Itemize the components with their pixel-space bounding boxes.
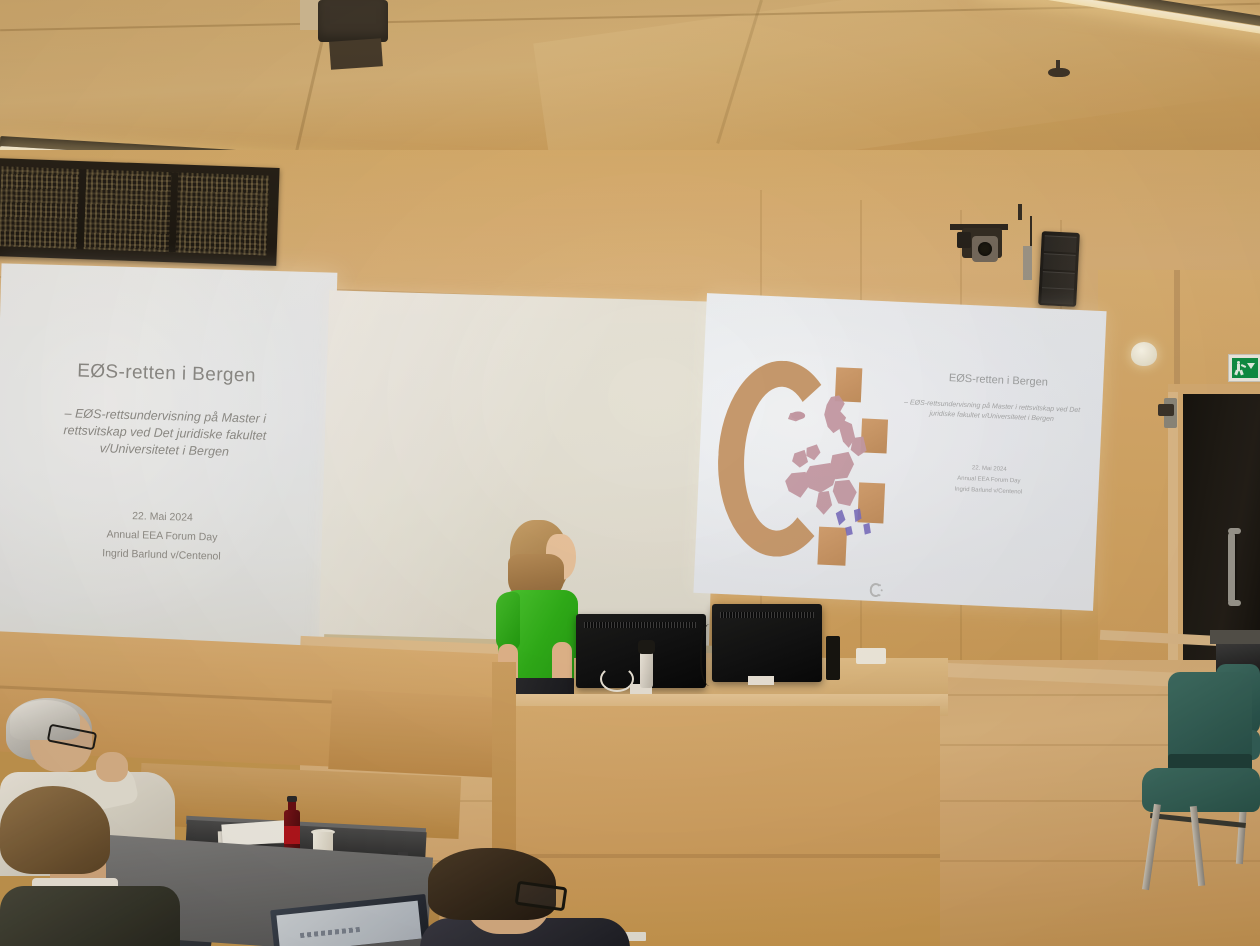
side-desk	[1210, 630, 1260, 644]
cable	[600, 666, 634, 692]
microphone-icon	[640, 648, 653, 688]
loudspeaker-icon	[1038, 231, 1080, 307]
exit-sign-face	[1232, 358, 1258, 378]
c-arc-dots-logo	[869, 583, 886, 600]
europe-map-arc-emblem	[713, 354, 902, 572]
ceiling-sensor-icon	[1048, 68, 1070, 77]
cable	[700, 624, 724, 686]
wall-lamp-icon	[1131, 342, 1157, 366]
attendee-dark-jacket	[0, 786, 210, 946]
monitor-vent	[584, 622, 696, 628]
door-handle-bottom	[1228, 600, 1241, 606]
ceiling-projector-icon	[318, 0, 388, 42]
grille-mesh	[0, 166, 269, 255]
stacking-chair-teal[interactable]	[1142, 672, 1260, 872]
attendee-jacket	[0, 886, 180, 946]
wall-pipe	[1174, 270, 1180, 390]
attendee-foreground-glasses	[420, 848, 650, 946]
ptz-camera-icon	[972, 236, 998, 262]
camera-arm	[957, 232, 971, 248]
presenter-sleeve	[496, 592, 520, 650]
attendee-hair	[0, 786, 110, 874]
door-handle-top	[1228, 528, 1241, 534]
slide-subtitle-left: – EØS-rettsundervisning på Master i rett…	[0, 403, 333, 463]
microphone-head	[638, 640, 655, 654]
projector-plate	[329, 38, 383, 70]
bottle-cap	[287, 796, 297, 802]
desk-speaker-icon	[826, 636, 840, 680]
speaker-bracket	[1018, 204, 1022, 220]
wall-plate	[1158, 404, 1174, 416]
monitor-rear-icon	[712, 604, 822, 682]
projection-screen-left: EØS-retten i Bergen – EØS-rettsundervisn…	[0, 263, 337, 664]
europe-map-icon	[773, 391, 889, 538]
screen-sheen	[0, 263, 337, 664]
bottle-label	[284, 826, 300, 844]
desk-device	[856, 648, 886, 664]
emergency-exit-running-man-icon	[1228, 354, 1260, 382]
slide-footer-left: 22. Mai 2024 Annual EEA Forum Day Ingrid…	[0, 503, 331, 569]
ventilation-grille-icon	[0, 158, 280, 266]
camera-lens	[978, 242, 992, 256]
monitor-vent	[720, 612, 814, 618]
door-handle[interactable]	[1228, 532, 1235, 604]
speaker-hanger	[1023, 246, 1032, 280]
speaker-wire	[1030, 216, 1032, 250]
monitor-stand	[748, 676, 774, 685]
lecture-hall-photo: EØS-retten i Bergen – EØS-rettsundervisn…	[0, 0, 1260, 946]
attendee-hand	[96, 752, 128, 782]
